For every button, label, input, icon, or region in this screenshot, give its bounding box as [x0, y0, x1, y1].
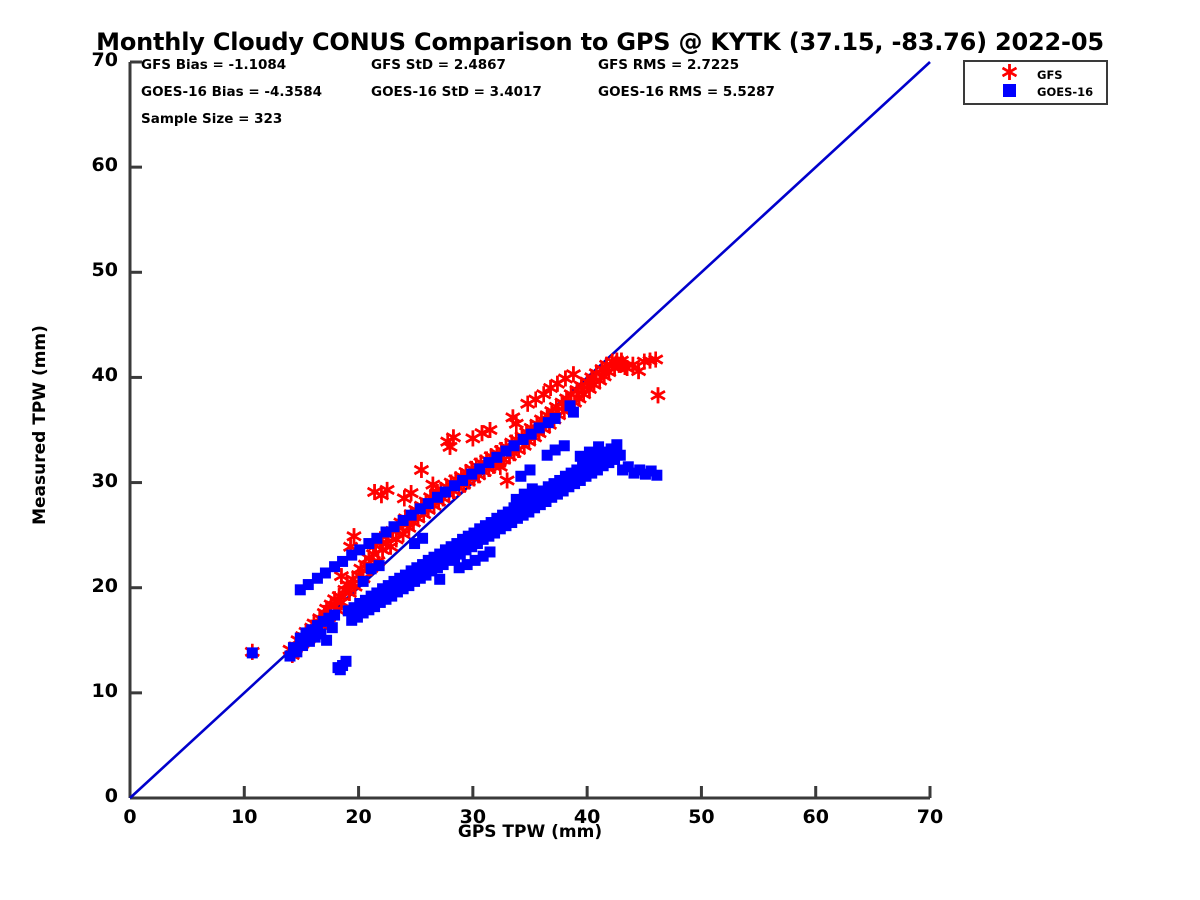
- x-tick-label: 70: [900, 806, 960, 828]
- legend-item-goes16[interactable]: GOES-16: [1037, 85, 1093, 99]
- y-tick-label: 0: [58, 785, 118, 807]
- series-gfs-points: [245, 352, 665, 663]
- x-tick-label: 20: [329, 806, 389, 828]
- x-tick-label: 10: [214, 806, 274, 828]
- x-tick-label: 50: [671, 806, 731, 828]
- y-axis-ticks: [130, 62, 142, 798]
- legend-item-gfs[interactable]: GFS: [1037, 68, 1063, 82]
- x-tick-label: 30: [443, 806, 503, 828]
- x-axis-ticks: [130, 786, 930, 798]
- y-tick-label: 60: [58, 154, 118, 176]
- y-tick-label: 10: [58, 680, 118, 702]
- y-tick-label: 20: [58, 575, 118, 597]
- x-tick-label: 60: [786, 806, 846, 828]
- scatter-plot-figure: Monthly Cloudy CONUS Comparison to GPS @…: [0, 0, 1200, 900]
- y-tick-label: 40: [58, 364, 118, 386]
- legend[interactable]: GFS GOES-16: [963, 60, 1108, 105]
- y-tick-label: 30: [58, 470, 118, 492]
- x-tick-label: 40: [557, 806, 617, 828]
- x-tick-label: 0: [100, 806, 160, 828]
- square-marker-icon: [1003, 84, 1016, 97]
- asterisk-marker-icon: [1003, 64, 1017, 80]
- y-axis-label: Measured TPW (mm): [30, 325, 50, 525]
- plot-canvas: [0, 0, 1200, 900]
- y-tick-label: 50: [58, 259, 118, 281]
- y-tick-label: 70: [58, 49, 118, 71]
